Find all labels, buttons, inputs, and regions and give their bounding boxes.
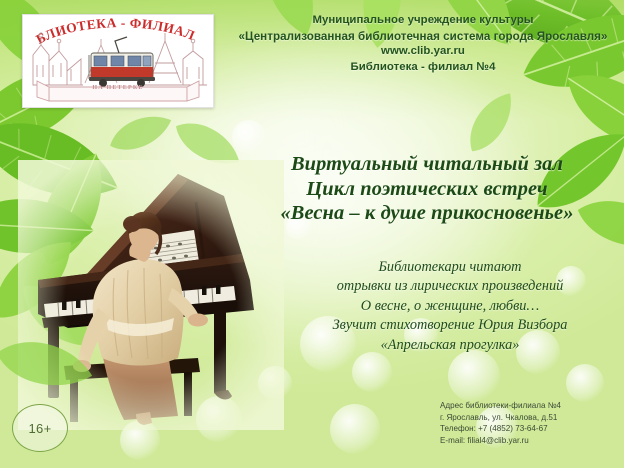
contact-address-label: Адрес библиотеки-филиала №4: [440, 400, 610, 412]
event-description: Библиотекари читают отрывки из лирически…: [278, 258, 622, 355]
contact-email[interactable]: E-mail: filial4@clib.yar.ru: [440, 435, 610, 447]
contact-address: г. Ярославль, ул. Чкалова, д.51: [440, 412, 610, 424]
header-line-2: «Централизованная библиотечная система г…: [228, 29, 618, 45]
description-line-2: отрывки из лирических произведений: [278, 277, 622, 296]
header-line-1: Муниципальное учреждение культуры: [228, 13, 618, 29]
logo-ribbon-label: НА ПЕТЕРКЕ: [23, 85, 213, 91]
title-line-2: Цикл поэтических встреч: [232, 177, 622, 202]
description-line-1: Библиотекари читают: [278, 258, 622, 277]
event-title: Виртуальный читальный зал Цикл поэтическ…: [232, 152, 622, 226]
library-logo: БИБЛИОТЕКА - ФИЛИАЛ №4: [22, 14, 214, 108]
description-line-4: Звучит стихотворение Юрия Визбора: [278, 316, 622, 335]
organization-header: Муниципальное учреждение культуры «Центр…: [228, 13, 618, 75]
website-url[interactable]: www.clib.yar.ru: [228, 44, 618, 60]
description-line-5: «Апрельская прогулка»: [278, 336, 622, 355]
branch-name: Библиотека - филиал №4: [228, 60, 618, 76]
logo-illustration: [23, 15, 213, 107]
contact-info: Адрес библиотеки-филиала №4 г. Ярославль…: [440, 400, 610, 446]
title-line-3: «Весна – к душе прикосновенье»: [232, 201, 622, 226]
description-line-3: О весне, о женщине, любви…: [278, 297, 622, 316]
contact-phone[interactable]: Телефон: +7 (4852) 73-64-67: [440, 423, 610, 435]
poster-canvas: БИБЛИОТЕКА - ФИЛИАЛ №4: [0, 0, 624, 468]
title-line-1: Виртуальный читальный зал: [232, 152, 622, 177]
age-rating-badge: 16+: [12, 404, 68, 452]
